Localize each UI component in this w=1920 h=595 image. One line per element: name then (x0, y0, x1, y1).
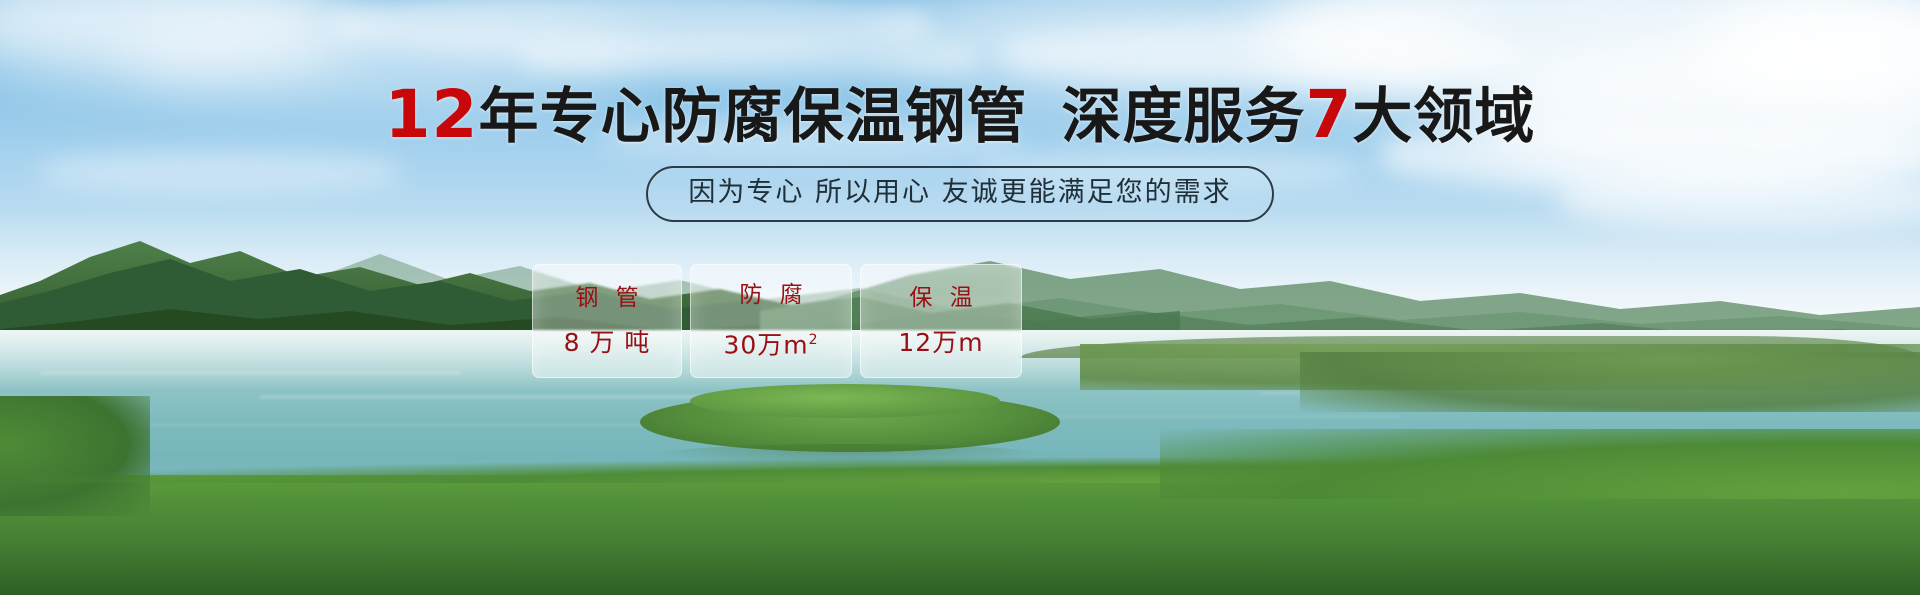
headline-text-fields: 大领域 (1352, 82, 1535, 152)
stat-card-group: 钢 管 8 万 吨 防 腐 30万m2 保 温 12万m (532, 264, 1022, 378)
stat-value: 12万m (898, 329, 983, 357)
headline-fields-number: 7 (1305, 76, 1352, 153)
subtitle-pill: 因为专心 所以用心 友诚更能满足您的需求 (646, 166, 1273, 222)
stat-card-insulation[interactable]: 保 温 12万m (860, 264, 1022, 378)
stat-label: 钢 管 (570, 285, 643, 311)
far-shore-grass-2 (1300, 352, 1920, 412)
stat-card-anticorrosion[interactable]: 防 腐 30万m2 (690, 264, 852, 378)
subtitle-row: 因为专心 所以用心 友诚更能满足您的需求 (0, 166, 1920, 222)
grass-right-bank (1160, 429, 1920, 499)
grass-islet-top (690, 384, 1000, 418)
headline-years-number: 12 (385, 76, 479, 153)
stat-label: 防 腐 (734, 282, 807, 308)
promo-banner: 12年专心防腐保温钢管深度服务7大领域 因为专心 所以用心 友诚更能满足您的需求… (0, 0, 1920, 595)
headline-text-service: 深度服务 (1061, 82, 1305, 152)
headline-text-main: 年专心防腐保温钢管 (478, 82, 1027, 152)
stat-value: 30万m2 (723, 326, 818, 359)
grass-left-bank (0, 396, 150, 516)
stat-value-base: 8 万 吨 (564, 328, 651, 357)
stat-value-base: 12万m (898, 328, 983, 357)
page-title: 12年专心防腐保温钢管深度服务7大领域 (0, 82, 1920, 150)
stat-card-steel-pipe[interactable]: 钢 管 8 万 吨 (532, 264, 682, 378)
stat-value-superscript: 2 (809, 332, 819, 348)
stat-label: 保 温 (904, 285, 977, 311)
stat-value-base: 30万m (723, 331, 808, 360)
stat-value: 8 万 吨 (564, 329, 651, 357)
